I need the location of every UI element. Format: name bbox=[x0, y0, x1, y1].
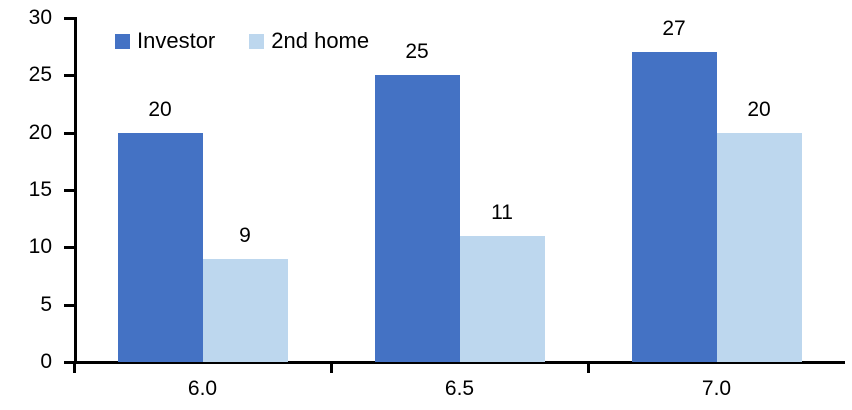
x-axis-tick bbox=[73, 362, 76, 373]
bar-value-label: 9 bbox=[203, 225, 288, 246]
chart-legend: Investor2nd home bbox=[115, 30, 369, 52]
legend-item[interactable]: 2nd home bbox=[249, 30, 369, 52]
bar[interactable] bbox=[118, 133, 203, 362]
bar-value-label: 25 bbox=[375, 41, 460, 62]
bar-value-label: 20 bbox=[717, 99, 802, 120]
legend-swatch bbox=[115, 34, 130, 49]
plot-area bbox=[74, 18, 845, 362]
bar[interactable] bbox=[717, 133, 802, 362]
bar-value-label: 20 bbox=[118, 99, 203, 120]
x-axis-tick-label: 7.0 bbox=[588, 378, 845, 399]
y-axis-tick-label: 15 bbox=[0, 179, 52, 201]
legend-swatch bbox=[249, 34, 264, 49]
y-axis-tick-label: 25 bbox=[0, 64, 52, 86]
bar[interactable] bbox=[203, 259, 288, 362]
y-axis-tick bbox=[64, 304, 74, 307]
bar[interactable] bbox=[632, 52, 717, 362]
y-axis-tick bbox=[64, 74, 74, 77]
y-axis-tick bbox=[64, 246, 74, 249]
bar[interactable] bbox=[460, 236, 545, 362]
x-axis-tick bbox=[330, 362, 333, 373]
y-axis-tick-label: 10 bbox=[0, 236, 52, 258]
x-axis-tick bbox=[587, 362, 590, 373]
bar-value-label: 27 bbox=[632, 18, 717, 39]
y-axis-tick-label: 20 bbox=[0, 122, 52, 144]
x-axis-tick-label: 6.5 bbox=[331, 378, 588, 399]
y-axis-tick-label: 30 bbox=[0, 7, 52, 29]
legend-label: 2nd home bbox=[271, 30, 369, 52]
bar-value-label: 11 bbox=[460, 202, 545, 223]
x-axis-tick-label: 6.0 bbox=[74, 378, 331, 399]
y-axis-tick bbox=[64, 132, 74, 135]
bar-chart: 051015202530 6.06.57.0 Investor2nd home … bbox=[0, 0, 852, 410]
bar[interactable] bbox=[375, 75, 460, 362]
y-axis-tick-label: 5 bbox=[0, 294, 52, 316]
y-axis-tick bbox=[64, 17, 74, 20]
legend-label: Investor bbox=[137, 30, 215, 52]
y-axis-tick bbox=[64, 189, 74, 192]
legend-item[interactable]: Investor bbox=[115, 30, 215, 52]
y-axis-tick-label: 0 bbox=[0, 351, 52, 373]
